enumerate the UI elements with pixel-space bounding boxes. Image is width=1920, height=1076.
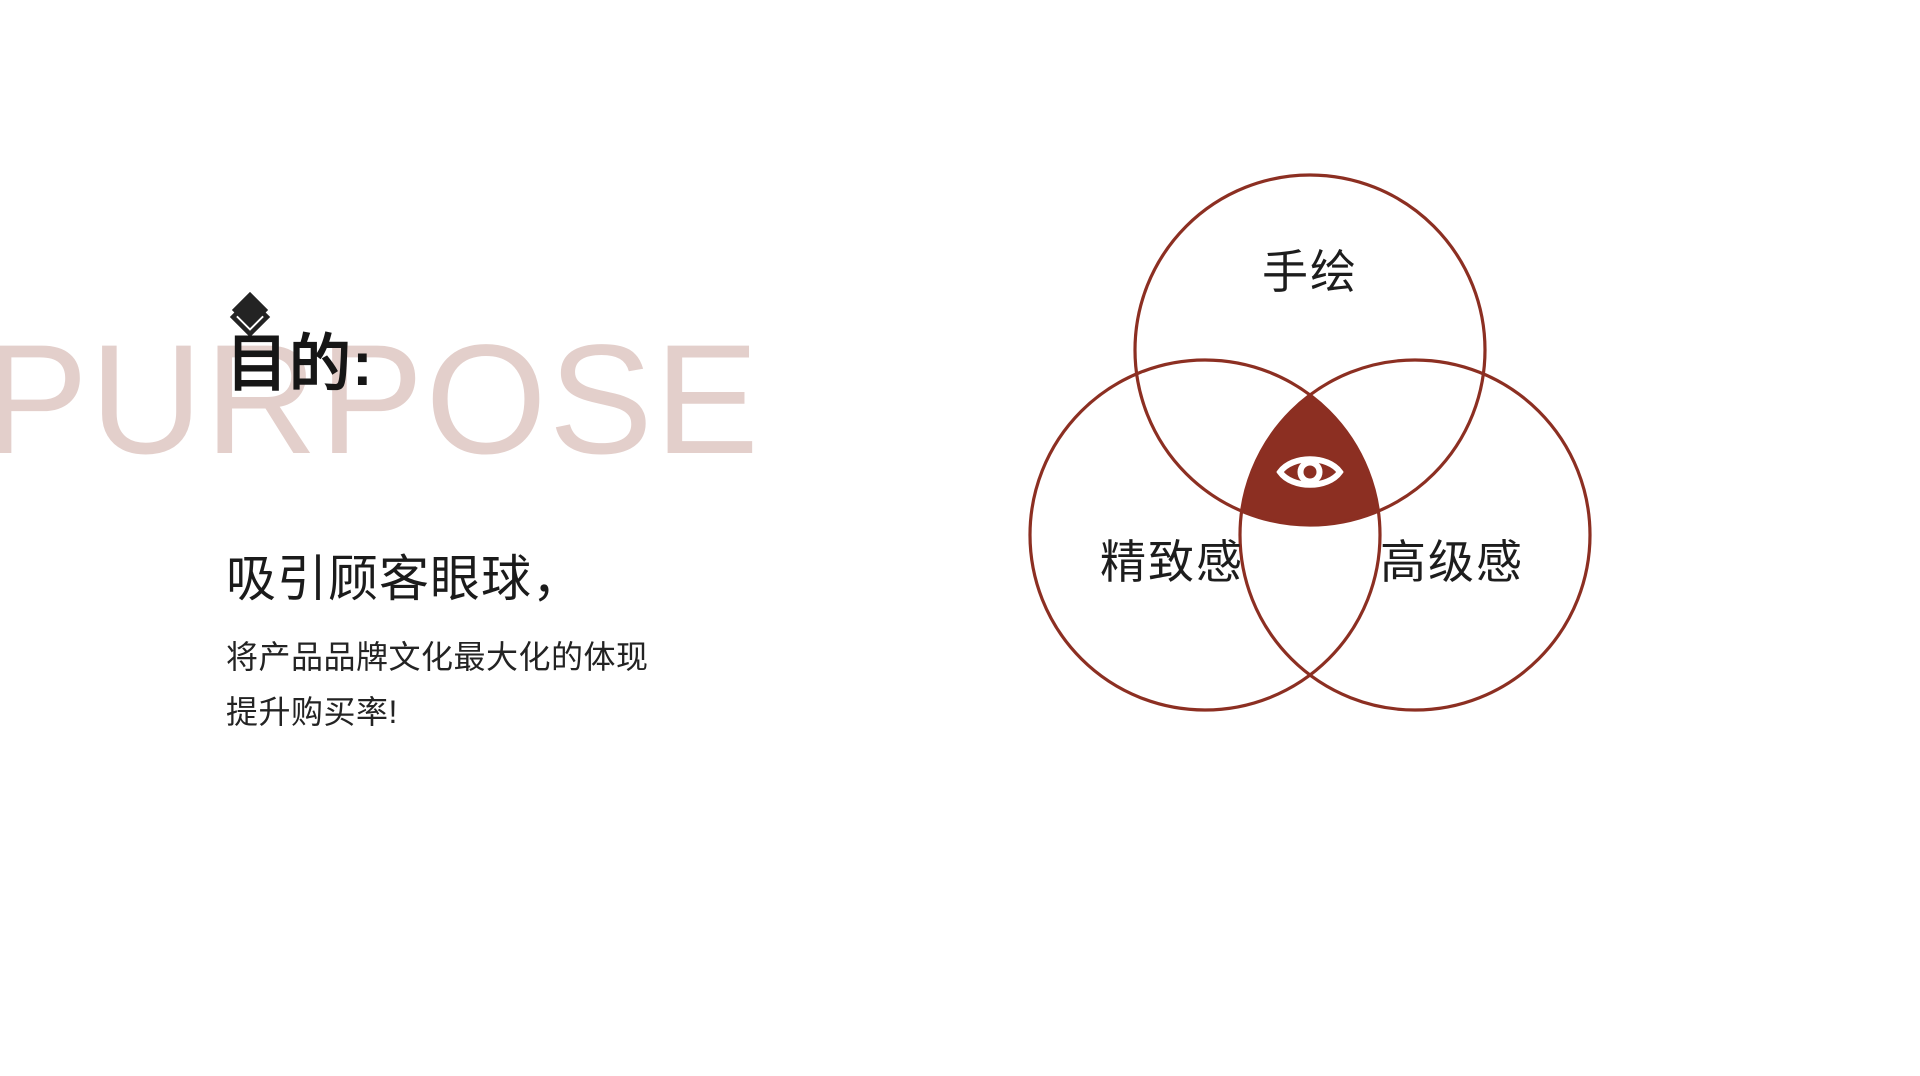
body-line: 提升购买率! [226, 685, 649, 740]
subtitle: 吸引顾客眼球， [226, 550, 583, 608]
venn-label-bottom-right: 高级感 [1380, 536, 1524, 588]
venn-intersection-fill [960, 120, 1660, 760]
venn-diagram: 手绘 精致感 高级感 [960, 120, 1660, 760]
left-text-block: PURPOSE 目的: 吸引顾客眼球， 将产品品牌文化最大化的体现 提升购买率! [0, 0, 900, 1076]
body-copy: 将产品品牌文化最大化的体现 提升购买率! [226, 630, 649, 740]
venn-label-bottom-left: 精致感 [1100, 536, 1244, 588]
body-line: 将产品品牌文化最大化的体现 [226, 630, 649, 685]
purpose-watermark: PURPOSE [0, 322, 761, 478]
page-title: 目的: [226, 330, 374, 399]
venn-label-top: 手绘 [1262, 246, 1358, 298]
slide-canvas: PURPOSE 目的: 吸引顾客眼球， 将产品品牌文化最大化的体现 提升购买率! [0, 0, 1920, 1076]
